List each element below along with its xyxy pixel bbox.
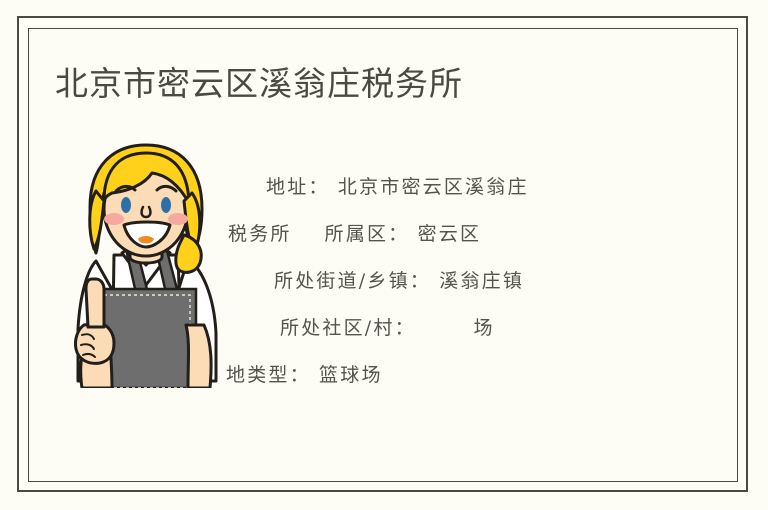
info-card-page: 北京市密云区溪翁庄税务所 (0, 0, 768, 510)
info-line-district: 税务所 所属区： 密云区 (222, 211, 620, 258)
cartoon-woman-pointing-up-illustration (62, 143, 234, 388)
info-line-community-village: 所处社区/村： 场 (222, 305, 620, 352)
info-line-land-type: 地类型： 篮球场 (222, 352, 620, 399)
page-title: 北京市密云区溪翁庄税务所 (55, 62, 463, 106)
info-text-block: 地址： 北京市密云区溪翁庄 税务所 所属区： 密云区 所处街道/乡镇： 溪翁庄镇… (222, 164, 620, 399)
info-line-street-town: 所处街道/乡镇： 溪翁庄镇 (222, 258, 620, 305)
info-line-address: 地址： 北京市密云区溪翁庄 (222, 164, 620, 211)
